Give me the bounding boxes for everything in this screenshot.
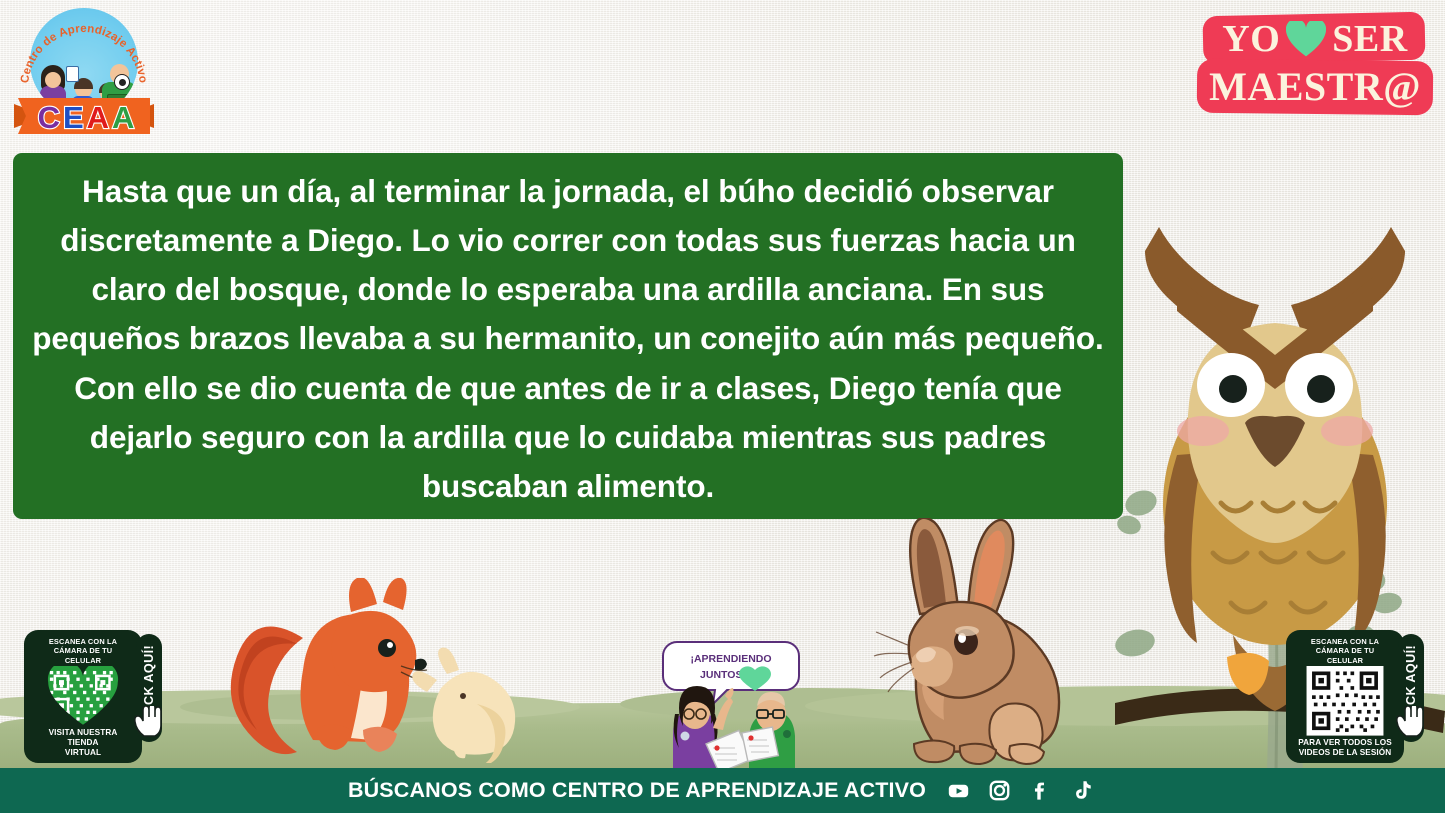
pointer-hand-icon xyxy=(1394,706,1428,740)
svg-text:Centro de Aprendizaje Activo: Centro de Aprendizaje Activo xyxy=(18,22,150,84)
qr-card-tienda-virtual[interactable]: ESCANEA CON LA CÁMARA DE TU CELULAR xyxy=(24,630,142,763)
facebook-icon[interactable] xyxy=(1025,775,1056,806)
qr-right-top-label: ESCANEA CON LA CÁMARA DE TU CELULAR xyxy=(1311,637,1379,665)
story-paragraph: Hasta que un día, al terminar la jornada… xyxy=(29,167,1107,511)
poster-canvas: Centro de Aprendizaje Activo C E A A YO … xyxy=(0,0,1445,813)
social-links-row xyxy=(943,775,1097,806)
footer-text: BÚSCANOS COMO CENTRO DE APRENDIZAJE ACTI… xyxy=(348,778,926,803)
tiktok-icon[interactable] xyxy=(1066,775,1097,806)
qr-card-videos-sesion[interactable]: ESCANEA CON LA CÁMARA DE TU CELULAR xyxy=(1286,630,1404,763)
ceaa-letter-c: C xyxy=(38,102,60,133)
speech-line-1: ¡APRENDIENDO xyxy=(690,653,771,665)
story-text-panel: Hasta que un día, al terminar la jornada… xyxy=(13,153,1123,519)
rabbit-illustration xyxy=(868,518,1098,768)
yo-amo-ser-maestro-badge[interactable]: YO SER MAESTR@ xyxy=(1197,8,1435,120)
ceaa-letter-a2: A xyxy=(112,102,134,133)
heart-icon xyxy=(1286,21,1326,58)
ceaa-letter-a1: A xyxy=(87,102,109,133)
ceaa-letter-e: E xyxy=(63,102,84,133)
badge-word-ser: SER xyxy=(1332,20,1407,58)
teachers-illustration[interactable]: ¡APRENDIENDO JUNTOS! xyxy=(655,638,810,770)
badge-word-maestro: MAESTR@ xyxy=(1209,67,1421,107)
qr-left-top-label: ESCANEA CON LA CÁMARA DE TU CELULAR xyxy=(49,637,117,665)
ceaa-banner: C E A A xyxy=(14,94,154,138)
squirrel-and-bunny-illustration xyxy=(225,578,525,763)
ceaa-arc-label: Centro de Aprendizaje Activo xyxy=(18,22,150,84)
instagram-icon[interactable] xyxy=(984,775,1015,806)
qr-code-square-icon[interactable] xyxy=(1301,666,1389,736)
qr-left-bottom-label: VISITA NUESTRA TIENDA VIRTUAL xyxy=(49,728,118,758)
pointer-hand-icon xyxy=(132,706,166,740)
ceaa-logo[interactable]: Centro de Aprendizaje Activo C E A A xyxy=(14,6,154,138)
youtube-icon[interactable] xyxy=(943,775,974,806)
speech-line-2: JUNTOS! xyxy=(700,669,746,681)
qr-code-heart-icon[interactable] xyxy=(37,666,129,726)
footer-bar: BÚSCANOS COMO CENTRO DE APRENDIZAJE ACTI… xyxy=(0,768,1445,813)
badge-word-yo: YO xyxy=(1222,20,1280,58)
qr-right-bottom-label: PARA VER TODOS LOS VIDEOS DE LA SESIÓN xyxy=(1298,738,1392,758)
